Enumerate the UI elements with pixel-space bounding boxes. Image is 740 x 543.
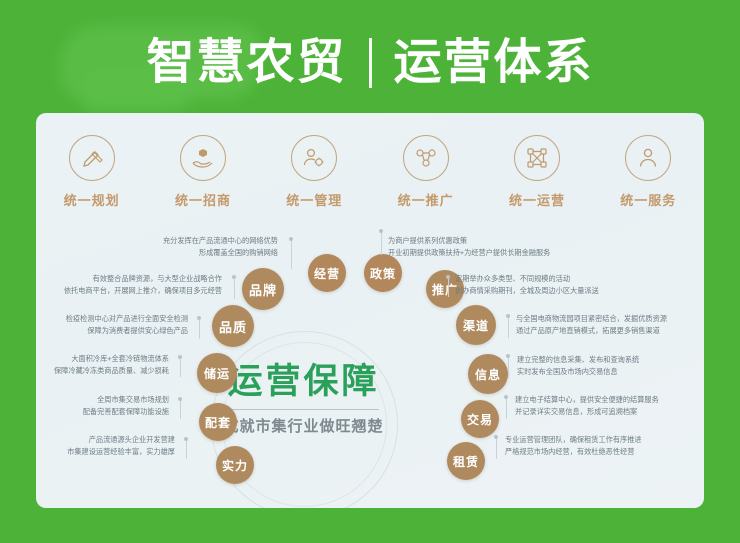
bubble-label: 信息 — [475, 366, 501, 383]
bubble-label: 交易 — [467, 411, 493, 428]
stem-dot — [178, 397, 182, 401]
note-left-3: 检疫检测中心对产品进行全面安全检测 保障为消费者提供安心绿色产品 — [36, 313, 188, 337]
pencil-ruler-icon — [69, 135, 115, 181]
capability-label: 统一推广 — [398, 190, 454, 209]
bubble-policy[interactable]: 政策 — [364, 254, 402, 292]
stem-connector — [448, 279, 449, 297]
bubble-label: 品质 — [219, 317, 247, 336]
bubble-storage[interactable]: 储运 — [197, 353, 237, 393]
bubble-label: 实力 — [222, 457, 248, 474]
stem-connector — [234, 279, 235, 299]
note-line: 保障为消费者提供安心绿色产品 — [36, 325, 188, 337]
footer-bar — [0, 508, 740, 543]
capability-label: 统一规划 — [64, 190, 120, 209]
bubble-label: 品牌 — [249, 280, 277, 299]
capability-label: 统一运营 — [509, 190, 565, 209]
note-line: 实时发布全国及市场内交易信息 — [517, 366, 705, 378]
stem-dot — [197, 316, 201, 320]
capability-item-promotion[interactable]: 统一推广 — [376, 135, 476, 209]
note-line: 依托电商平台，开展网上推介，确保项目多元经营 — [36, 285, 222, 297]
note-line: 全周市集交易市场规划 — [36, 394, 169, 406]
bubble-information[interactable]: 信息 — [468, 354, 508, 394]
capability-icon-row: 统一规划 统一招商 统一管理 — [36, 135, 704, 225]
note-line: 专业运营管理团队，确保租赁工作有序推进 — [505, 434, 693, 446]
bubble-transaction[interactable]: 交易 — [461, 400, 499, 438]
center-divider — [229, 409, 379, 410]
note-line: 检疫检测中心对产品进行全面安全检测 — [36, 313, 188, 325]
bubble-label: 储运 — [204, 365, 230, 382]
page-header: 智慧农贸 运营体系 — [0, 0, 740, 115]
stem-dot — [506, 314, 510, 318]
note-line: 配备完善配套保障功能设施 — [36, 406, 169, 418]
note-line: 严格规范市场内经营，有效杜绝恶性经营 — [505, 446, 693, 458]
title-divider — [369, 38, 372, 88]
note-line: 保障冷藏冷冻类商品质量、减少损耗 — [36, 365, 169, 377]
note-line: 有效整合品牌资源，与大型企业战略合作 — [36, 273, 222, 285]
note-line: 定期举办众多类型、不同规模的活动 — [455, 273, 695, 285]
note-right-2: 定期举办众多类型、不同规模的活动 创办商情采购期刊，全城及周边小区大量派送 — [455, 273, 695, 297]
person-service-icon — [625, 135, 671, 181]
bubble-label: 租赁 — [453, 453, 479, 470]
bubble-facilities[interactable]: 配套 — [199, 403, 237, 441]
note-line: 并记录详实交易信息，形成可追溯档案 — [515, 406, 703, 418]
bubble-quality[interactable]: 品质 — [212, 305, 254, 347]
note-line: 充分发挥在产品流通中心的网络优势 — [36, 235, 278, 247]
note-left-5: 全周市集交易市场规划 配备完善配套保障功能设施 — [36, 394, 169, 418]
stem-dot — [289, 237, 293, 241]
note-right-3: 与全国电商物流园项目紧密结合，发掘优质资源 通过产品原产地直销模式，拓展更多销售… — [516, 313, 704, 337]
note-left-6: 产品流通源头企业开发营建 市集建设运营经验丰富，实力雄厚 — [36, 434, 175, 458]
note-line: 建立完整的信息采集、发布和查询系统 — [517, 354, 705, 366]
note-line: 形成覆盖全国的购销网络 — [36, 247, 278, 259]
bubble-strength[interactable]: 实力 — [216, 446, 254, 484]
stem-connector — [291, 241, 292, 269]
stem-connector — [506, 399, 507, 419]
bubble-operating[interactable]: 经营 — [308, 254, 346, 292]
note-line: 创办商情采购期刊，全城及周边小区大量派送 — [455, 285, 695, 297]
note-line: 产品流通源头企业开发营建 — [36, 434, 175, 446]
capability-item-planning[interactable]: 统一规划 — [42, 135, 142, 209]
note-right-5: 建立电子结算中心，提供安全便捷的结算服务 并记录详实交易信息，形成可追溯档案 — [515, 394, 703, 418]
user-gear-icon — [291, 135, 337, 181]
note-line: 大面积冷库+全套冷链物流体系 — [36, 353, 169, 365]
bubble-label: 配套 — [205, 414, 231, 431]
stem-dot — [506, 354, 510, 358]
bubble-label: 政策 — [370, 265, 396, 282]
content-card: 统一规划 统一招商 统一管理 — [36, 113, 704, 508]
stem-dot — [504, 395, 508, 399]
bubble-channel[interactable]: 渠道 — [456, 305, 496, 345]
stem-dot — [494, 435, 498, 439]
bubble-label: 渠道 — [463, 317, 489, 334]
capability-item-management[interactable]: 统一管理 — [264, 135, 364, 209]
note-left-2: 有效整合品牌资源，与大型企业战略合作 依托电商平台，开展网上推介，确保项目多元经… — [36, 273, 222, 297]
note-line: 市集建设运营经验丰富，实力雄厚 — [36, 446, 175, 458]
stem-connector — [180, 401, 181, 419]
stem-dot — [446, 275, 450, 279]
note-line: 通过产品原产地直销模式，拓展更多销售渠道 — [516, 325, 704, 337]
nodes-network-icon — [514, 135, 560, 181]
note-line: 建立电子结算中心，提供安全便捷的结算服务 — [515, 394, 703, 406]
note-right-1: 为商户提供系列优惠政策 开业初期提供政策扶持+为经营户提供长期金融服务 — [388, 235, 688, 259]
capability-item-investment[interactable]: 统一招商 — [153, 135, 253, 209]
note-right-4: 建立完整的信息采集、发布和查询系统 实时发布全国及市场内交易信息 — [517, 354, 705, 378]
stem-connector — [496, 439, 497, 459]
megaphone-network-icon — [403, 135, 449, 181]
bubble-leasing[interactable]: 租赁 — [447, 442, 485, 480]
bubble-brand[interactable]: 品牌 — [242, 268, 284, 310]
stem-dot — [379, 229, 383, 233]
stem-dot — [178, 355, 182, 359]
note-left-1: 充分发挥在产品流通中心的网络优势 形成覆盖全国的购销网络 — [36, 235, 278, 259]
stem-dot — [232, 275, 236, 279]
note-line: 为商户提供系列优惠政策 — [388, 235, 688, 247]
header-title-group: 智慧农贸 运营体系 — [0, 28, 740, 98]
note-line: 开业初期提供政策扶持+为经营户提供长期金融服务 — [388, 247, 688, 259]
stem-connector — [508, 318, 509, 338]
page-title: 智慧农贸 — [146, 34, 346, 92]
capability-item-service[interactable]: 统一服务 — [598, 135, 698, 209]
capability-item-operation[interactable]: 统一运营 — [487, 135, 587, 209]
capability-label: 统一管理 — [286, 190, 342, 209]
stem-connector — [199, 320, 200, 339]
stem-connector — [381, 233, 382, 255]
note-left-4: 大面积冷库+全套冷链物流体系 保障冷藏冷冻类商品质量、减少损耗 — [36, 353, 169, 377]
hand-merchant-icon — [180, 135, 226, 181]
page-subtitle: 运营体系 — [394, 34, 594, 92]
bubble-label: 经营 — [314, 265, 340, 282]
stem-dot — [184, 437, 188, 441]
note-right-6: 专业运营管理团队，确保租赁工作有序推进 严格规范市场内经营，有效杜绝恶性经营 — [505, 434, 693, 458]
stem-connector — [186, 441, 187, 459]
stem-connector — [508, 358, 509, 378]
note-line: 与全国电商物流园项目紧密结合，发掘优质资源 — [516, 313, 704, 325]
stem-connector — [180, 359, 181, 377]
capability-label: 统一招商 — [175, 190, 231, 209]
capability-label: 统一服务 — [620, 190, 676, 209]
